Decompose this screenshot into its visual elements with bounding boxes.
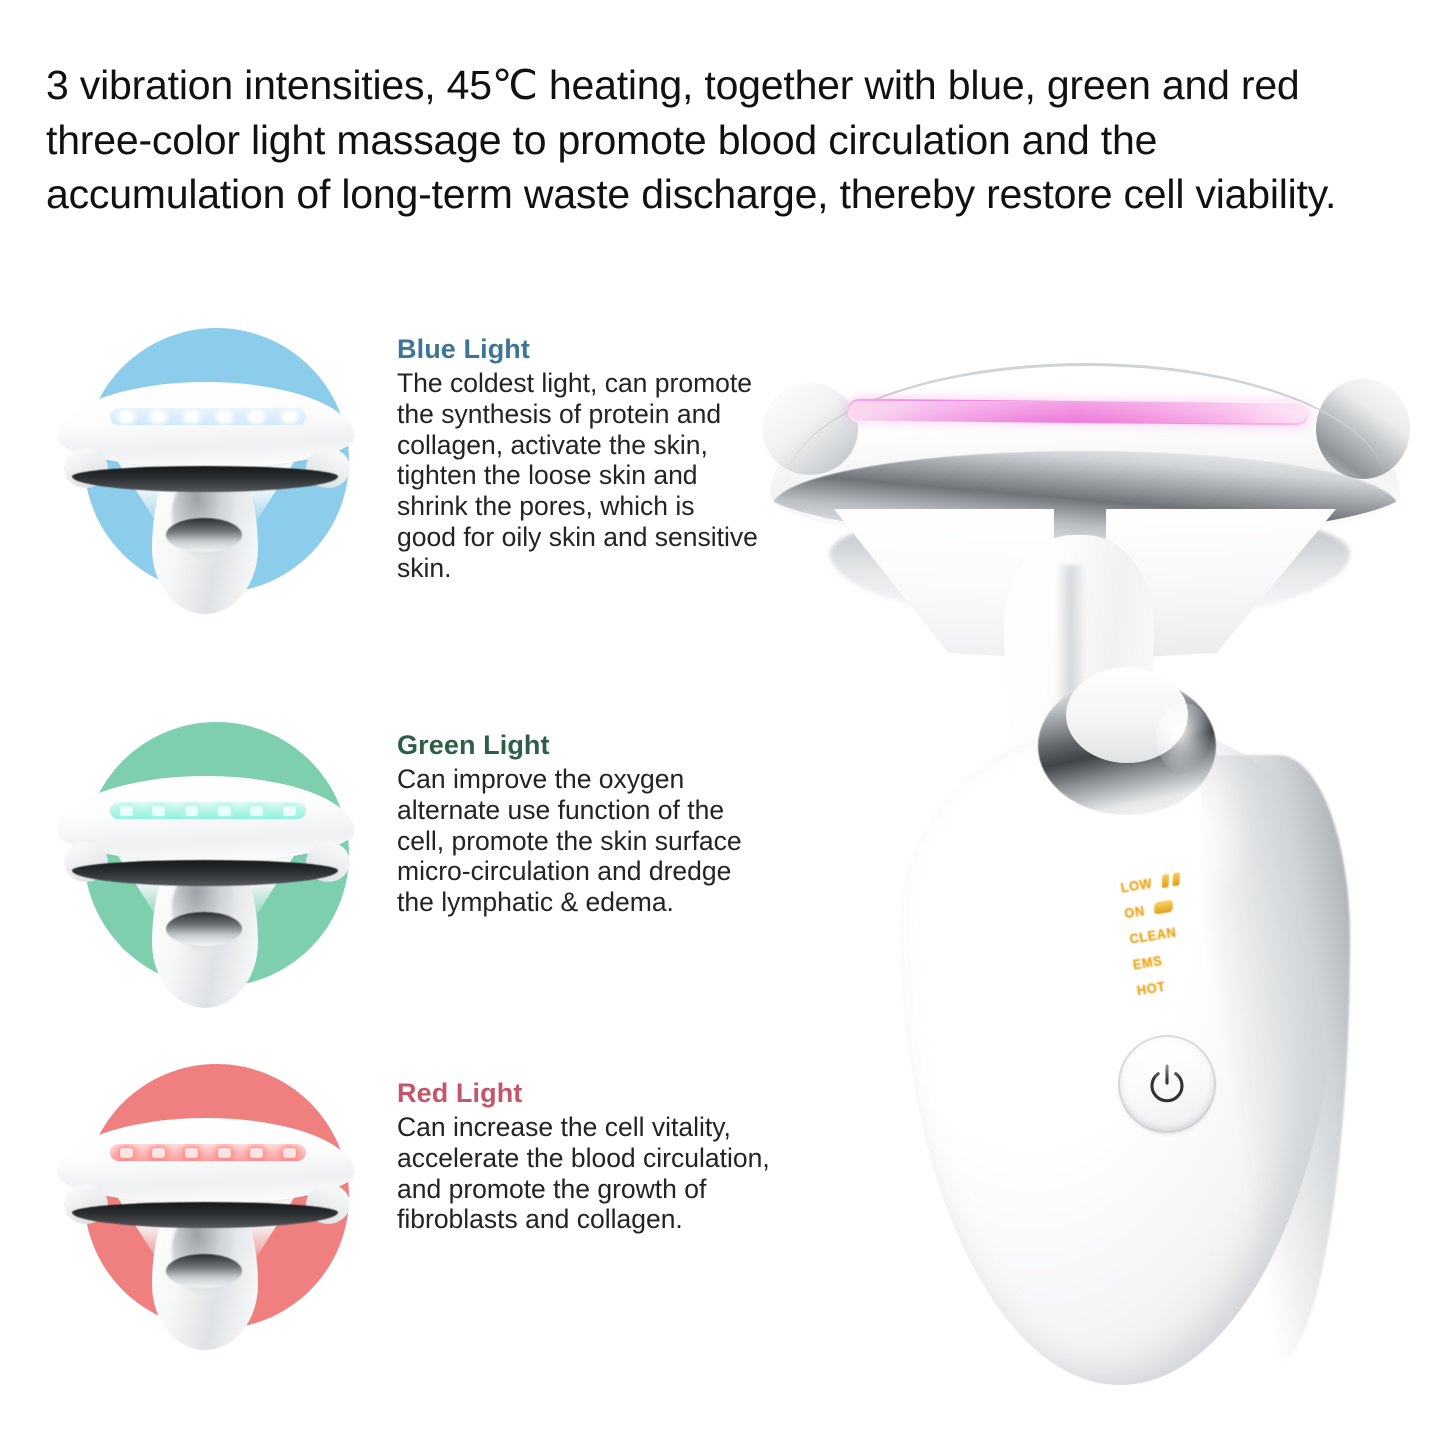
device-chrome-ring — [166, 518, 242, 552]
feature-red-light: Red Light Can increase the cell vitality… — [60, 1058, 380, 1358]
led-strip-gloss — [848, 401, 1308, 423]
device-chrome-ring — [166, 1254, 242, 1288]
feature-blue-light: Blue Light The coldest light, can promot… — [60, 322, 380, 622]
body-collar-highlight — [1156, 703, 1212, 773]
led-channel-blue — [110, 408, 306, 425]
device-illustration-blue — [60, 322, 350, 612]
led-channel-red — [110, 1144, 306, 1161]
device-illustration-red — [60, 1058, 350, 1348]
thumbnail-green-light — [60, 716, 350, 1006]
power-button[interactable] — [1120, 1037, 1214, 1131]
vibration-bars-icon — [1161, 872, 1181, 888]
power-icon — [1144, 1061, 1190, 1107]
thumbnail-red-light — [60, 1058, 350, 1348]
device-illustration-green — [60, 716, 350, 1006]
thumbnail-blue-light — [60, 322, 350, 612]
panel-label-on: ON — [1123, 902, 1146, 921]
product-image-main: LOW ON CLEAN EMS HOT — [760, 355, 1410, 1415]
device-rubber-strip — [72, 466, 338, 492]
led-dots — [110, 1144, 306, 1161]
device-chrome-ring — [166, 912, 242, 946]
control-panel-legend: LOW ON CLEAN EMS HOT — [1117, 847, 1318, 1023]
led-dots — [110, 408, 306, 425]
infographic-page: 3 vibration intensities, 45℃ heating, to… — [0, 0, 1445, 1445]
device-head — [58, 382, 354, 502]
page-title: 3 vibration intensities, 45℃ heating, to… — [46, 58, 1406, 222]
panel-label-clean: CLEAN — [1128, 924, 1177, 947]
feature-green-light: Green Light Can improve the oxygen alter… — [60, 716, 380, 1016]
device-head — [58, 776, 354, 896]
product-body: LOW ON CLEAN EMS HOT — [870, 685, 1410, 1425]
panel-label-hot: HOT — [1136, 978, 1167, 998]
device-rubber-strip — [72, 1202, 338, 1228]
led-channel-green — [110, 802, 306, 819]
led-dots — [110, 802, 306, 819]
panel-label-low: LOW — [1120, 875, 1154, 896]
device-rubber-strip — [72, 860, 338, 886]
device-head — [58, 1118, 354, 1238]
mode-pill-icon — [1154, 900, 1173, 915]
panel-label-ems: EMS — [1132, 952, 1164, 972]
